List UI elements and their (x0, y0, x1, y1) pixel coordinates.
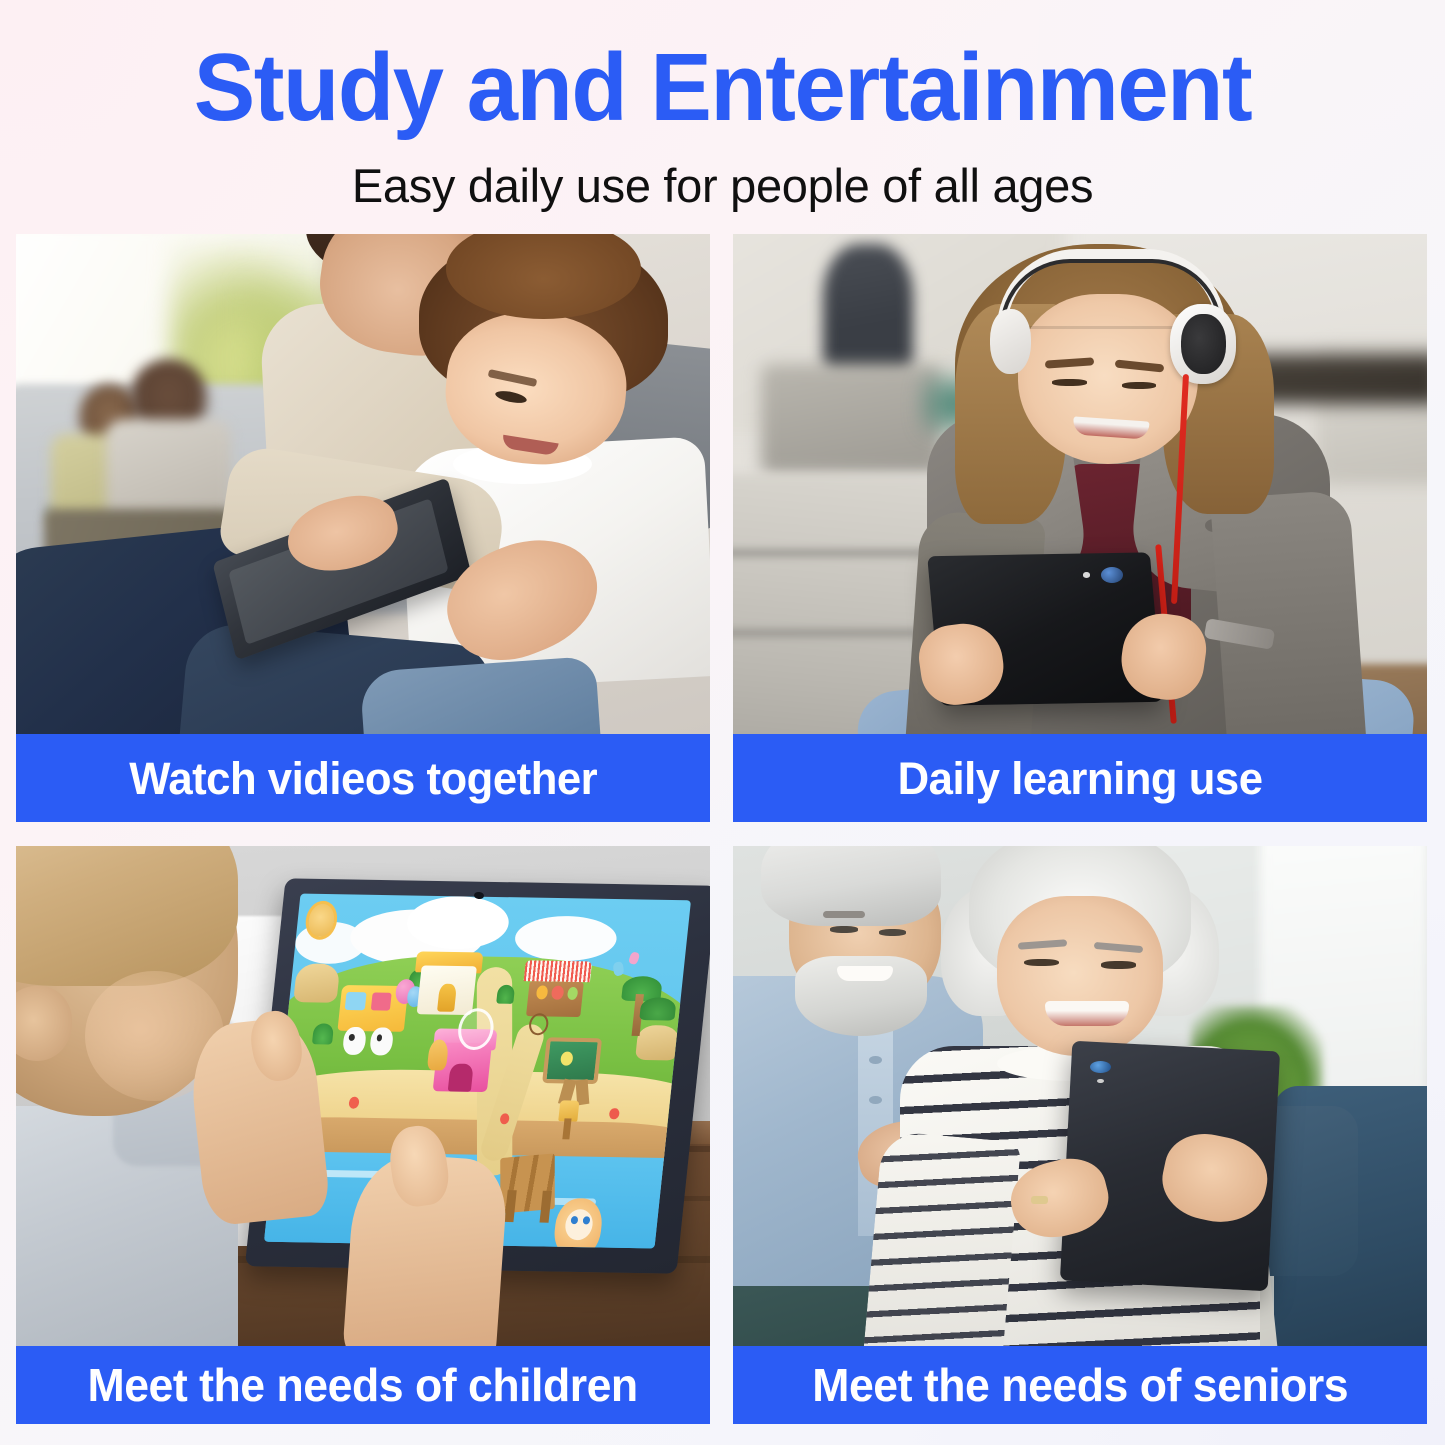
card-caption-text: Watch vidieos together (129, 756, 597, 801)
man-eyebrow (823, 911, 865, 918)
boy-hair (16, 846, 238, 986)
woman-arm-right (1210, 489, 1367, 734)
game-candy-house-door (448, 1064, 474, 1092)
background-person (823, 244, 913, 374)
woman-smile (1045, 1001, 1128, 1026)
woman-eye-right (1122, 382, 1157, 389)
game-palm-tree-2 (639, 997, 676, 1020)
photo-father-and-son (16, 234, 710, 734)
page-subtitle: Easy daily use for people of all ages (0, 136, 1445, 209)
card-caption-bar: Meet the needs of seniors (733, 1346, 1427, 1424)
woman-eye-left (1052, 379, 1087, 386)
game-market-awning (524, 960, 592, 982)
game-cloud-2 (404, 895, 511, 949)
woman-arm-left (862, 1130, 1021, 1346)
game-rock-left (293, 963, 340, 1002)
card-caption-text: Daily learning use (898, 756, 1263, 801)
man-shirt-button-2 (869, 1096, 881, 1104)
game-music-note-2 (628, 951, 640, 964)
man-shirt-button-1 (869, 1056, 881, 1064)
photo-senior-couple (733, 846, 1427, 1346)
header: Study and Entertainment Easy daily use f… (0, 0, 1445, 209)
game-bus-window-2 (371, 992, 392, 1010)
game-tree-1 (312, 1023, 334, 1044)
game-cloud-3 (513, 915, 619, 962)
game-house-door (437, 983, 457, 1011)
game-bus-window-1 (345, 992, 366, 1010)
card-caption-text: Meet the needs of children (88, 1362, 638, 1408)
card-caption-bar: Watch vidieos together (16, 734, 710, 822)
headphone-earcup-right-pad (1181, 314, 1226, 374)
feature-card-seniors[interactable]: Meet the needs of seniors (733, 846, 1427, 1424)
tablet-front-camera (474, 892, 484, 900)
photo-woman-with-headphones (733, 234, 1427, 734)
photo-boy-with-tablet-game (16, 846, 710, 1346)
card-caption-text: Meet the needs of seniors (812, 1362, 1348, 1408)
card-caption-bar: Meet the needs of children (16, 1346, 710, 1424)
man-eye-right (879, 929, 907, 936)
game-chalkboard (543, 1037, 602, 1083)
feature-card-watch-videos[interactable]: Watch vidieos together (16, 234, 710, 822)
man-smile (837, 966, 893, 981)
card-caption-bar: Daily learning use (733, 734, 1427, 822)
feature-card-children[interactable]: Meet the needs of children (16, 846, 710, 1424)
feature-card-grid: Watch vidieos together (16, 234, 1427, 1424)
headphone-earcup-left (990, 309, 1032, 374)
page-title: Study and Entertainment (29, 0, 1416, 136)
background-chair-left (761, 364, 941, 474)
woman-face (997, 896, 1164, 1056)
infographic-root: Study and Entertainment Easy daily use f… (0, 0, 1445, 1445)
man-eye-left (830, 926, 858, 933)
woman-ring (1031, 1196, 1048, 1204)
feature-card-daily-learning[interactable]: Daily learning use (733, 234, 1427, 822)
woman-eye-left (1024, 959, 1059, 967)
tablet-camera-led (1083, 572, 1091, 578)
woman-eye-right (1101, 961, 1136, 969)
tablet-camera-lens (1101, 567, 1123, 583)
tablet-camera-led (1097, 1079, 1104, 1084)
